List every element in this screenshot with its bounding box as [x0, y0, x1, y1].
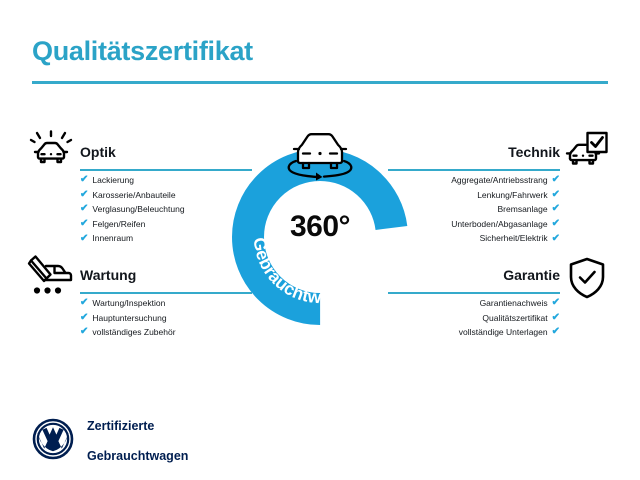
check-icon: ✔ — [552, 234, 560, 244]
section-technik-divider — [388, 169, 560, 171]
list-item-label: Bremsanlage — [498, 202, 548, 217]
list-item: Qualitätszertifikat✔ — [388, 311, 560, 326]
list-item: ✔Innenraum — [80, 231, 252, 246]
list-item: ✔vollständiges Zubehör — [80, 325, 252, 340]
car-service-tool-icon — [26, 254, 74, 305]
check-icon: ✔ — [80, 204, 88, 214]
list-item: Unterboden/Abgasanlage✔ — [388, 217, 560, 232]
check-icon: ✔ — [552, 313, 560, 323]
check-icon: ✔ — [80, 327, 88, 337]
check-icon: ✔ — [80, 298, 88, 308]
section-wartung-divider — [80, 292, 252, 294]
list-item-label: Verglasung/Beleuchtung — [92, 202, 184, 217]
list-item-label: Innenraum — [92, 231, 133, 246]
title-divider — [32, 81, 608, 84]
list-item-label: Wartung/Inspektion — [92, 296, 165, 311]
check-icon: ✔ — [80, 219, 88, 229]
list-item: vollständige Unterlagen✔ — [388, 325, 560, 340]
list-item: Lenkung/Fahrwerk✔ — [388, 188, 560, 203]
footer-brand-text: Zertifizierte Gebrauchtwagen — [87, 404, 188, 479]
section-garantie-header: Garantie — [388, 266, 560, 296]
car-shine-icon — [28, 130, 74, 181]
section-wartung: Wartung ✔Wartung/Inspektion✔Hauptuntersu… — [80, 266, 252, 340]
list-item: ✔Wartung/Inspektion — [80, 296, 252, 311]
check-icon: ✔ — [552, 327, 560, 337]
list-item-label: Sicherheit/Elektrik — [480, 231, 548, 246]
section-optik-list: ✔Lackierung✔Karosserie/Anbauteile✔Vergla… — [80, 173, 252, 246]
section-garantie-title: Garantie — [388, 266, 560, 284]
list-item: ✔Verglasung/Beleuchtung — [80, 202, 252, 217]
list-item: Sicherheit/Elektrik✔ — [388, 231, 560, 246]
section-optik: Optik ✔Lackierung✔Karosserie/Anbauteile✔… — [80, 143, 252, 246]
list-item-label: Qualitätszertifikat — [482, 311, 547, 326]
section-wartung-header: Wartung — [80, 266, 252, 296]
section-technik: Technik Aggregate/Antriebsstrang✔Lenkung… — [388, 143, 560, 246]
certificate-page: Qualitätszertifikat — [0, 0, 640, 480]
page-title: Qualitätszertifikat — [32, 36, 253, 67]
section-technik-title: Technik — [388, 143, 560, 161]
shield-check-icon — [566, 256, 608, 305]
check-icon: ✔ — [80, 190, 88, 200]
list-item: ✔Felgen/Reifen — [80, 217, 252, 232]
check-icon: ✔ — [552, 190, 560, 200]
badge-center-label: 360° — [231, 210, 409, 244]
list-item-label: Unterboden/Abgasanlage — [451, 217, 547, 232]
section-optik-header: Optik — [80, 143, 252, 173]
volkswagen-logo — [32, 418, 74, 465]
list-item-label: Garantienachweis — [480, 296, 548, 311]
section-wartung-title: Wartung — [80, 266, 252, 284]
check-icon: ✔ — [80, 234, 88, 244]
list-item: ✔Lackierung — [80, 173, 252, 188]
list-item-label: Karosserie/Anbauteile — [92, 188, 175, 203]
car-rotation-360-icon — [272, 125, 368, 181]
car-checkbox-icon — [562, 130, 610, 181]
section-garantie-list: Garantienachweis✔Qualitätszertifikat✔vol… — [388, 296, 560, 340]
list-item-label: Lackierung — [92, 173, 134, 188]
section-optik-title: Optik — [80, 143, 252, 161]
list-item: ✔Karosserie/Anbauteile — [80, 188, 252, 203]
footer-brand: Zertifizierte Gebrauchtwagen — [32, 404, 188, 479]
list-item-label: vollständige Unterlagen — [459, 325, 548, 340]
list-item: Aggregate/Antriebsstrang✔ — [388, 173, 560, 188]
check-icon: ✔ — [80, 313, 88, 323]
check-icon: ✔ — [552, 175, 560, 185]
section-wartung-list: ✔Wartung/Inspektion✔Hauptuntersuchung✔vo… — [80, 296, 252, 340]
check-icon: ✔ — [552, 298, 560, 308]
check-icon: ✔ — [80, 175, 88, 185]
list-item-label: Felgen/Reifen — [92, 217, 145, 232]
check-icon: ✔ — [552, 219, 560, 229]
list-item-label: Hauptuntersuchung — [92, 311, 166, 326]
list-item-label: vollständiges Zubehör — [92, 325, 175, 340]
section-garantie-divider — [388, 292, 560, 294]
list-item: Garantienachweis✔ — [388, 296, 560, 311]
list-item-label: Aggregate/Antriebsstrang — [451, 173, 547, 188]
section-technik-header: Technik — [388, 143, 560, 173]
section-garantie: Garantie Garantienachweis✔Qualitätszerti… — [388, 266, 560, 340]
list-item: ✔Hauptuntersuchung — [80, 311, 252, 326]
check-icon: ✔ — [552, 204, 560, 214]
list-item: Bremsanlage✔ — [388, 202, 560, 217]
section-optik-divider — [80, 169, 252, 171]
footer-brand-line2: Gebrauchtwagen — [87, 449, 188, 464]
list-item-label: Lenkung/Fahrwerk — [477, 188, 547, 203]
footer-brand-line1: Zertifizierte — [87, 419, 188, 434]
section-technik-list: Aggregate/Antriebsstrang✔Lenkung/Fahrwer… — [388, 173, 560, 246]
